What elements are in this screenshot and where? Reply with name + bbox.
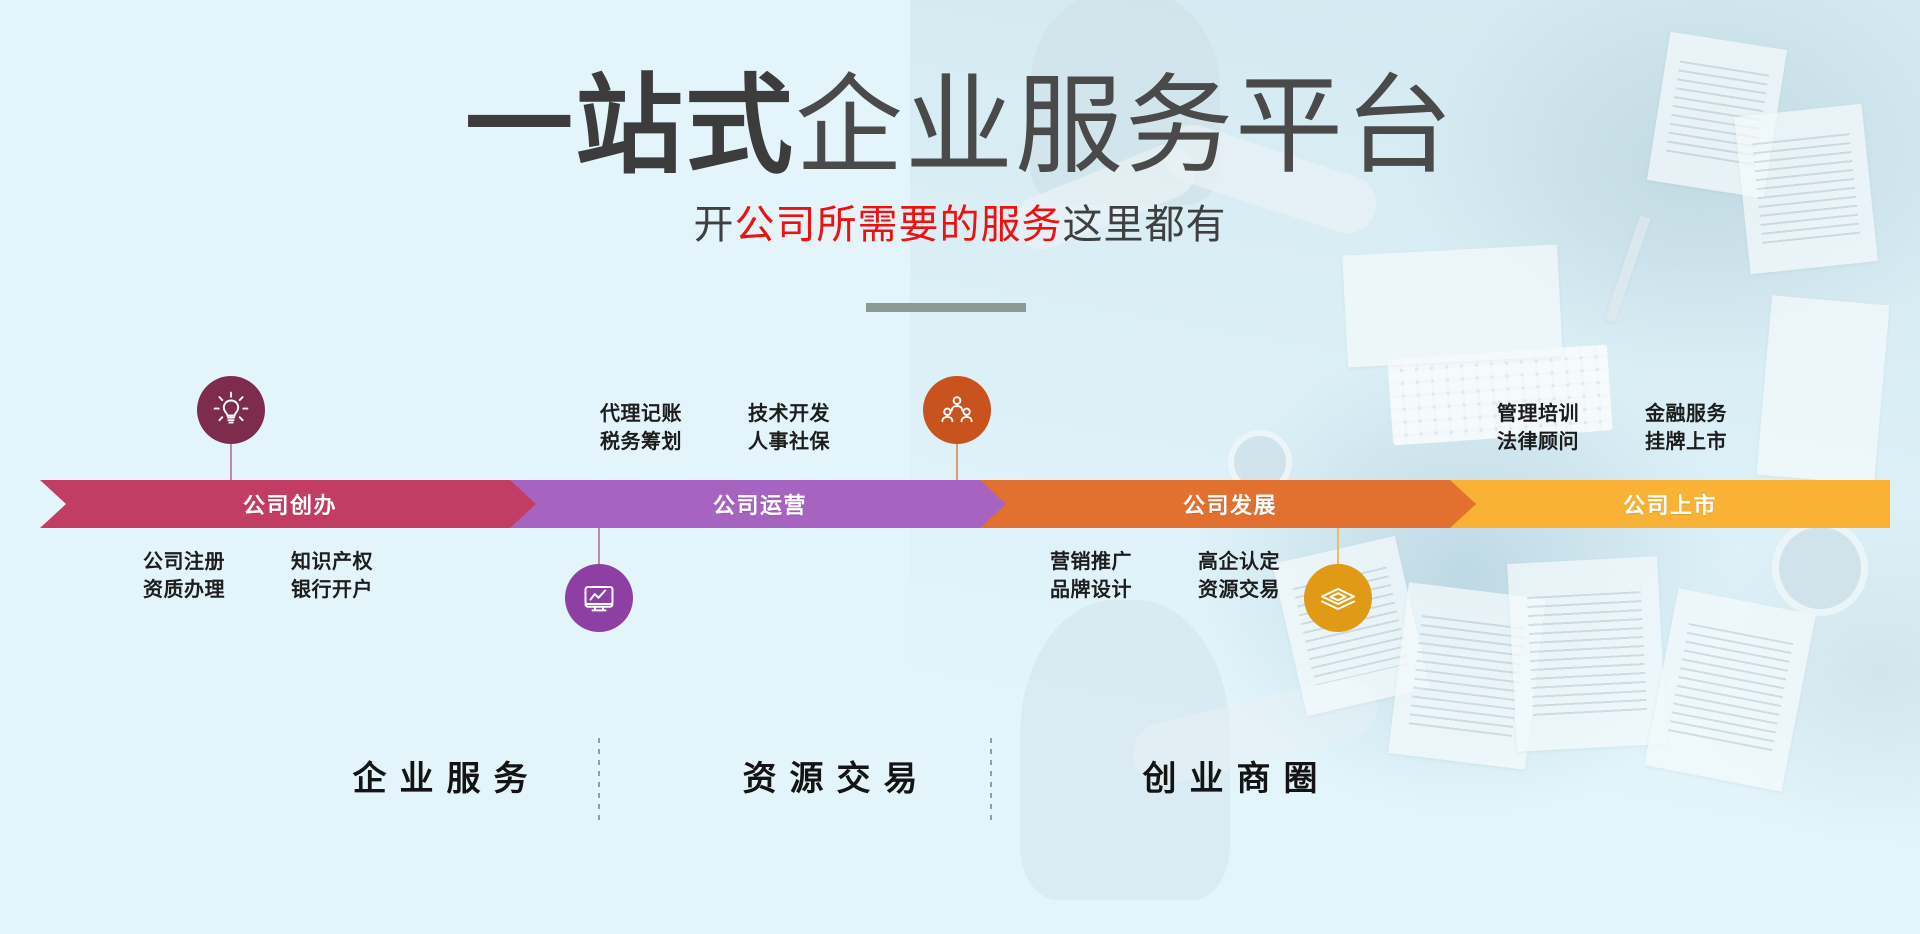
label-column: 高企认定 资源交易 xyxy=(1198,548,1328,605)
label-line: 税务筹划 xyxy=(600,428,748,456)
label-line: 资质办理 xyxy=(143,576,291,604)
lightbulb-icon xyxy=(211,390,251,430)
title-underline-rule xyxy=(866,303,1026,312)
band-item-label: 资源交易 xyxy=(730,751,931,800)
label-line: 技术开发 xyxy=(748,400,878,428)
label-line: 代理记账 xyxy=(600,400,748,428)
timeline-segment-company-development[interactable]: 公司发展 xyxy=(980,480,1480,528)
label-line: 高企认定 xyxy=(1198,548,1328,576)
node-stem-3 xyxy=(956,444,958,480)
page-subtitle: 开公司所需要的服务这里都有 xyxy=(0,192,1920,250)
band-divider-2 xyxy=(990,738,992,820)
node-circle-2 xyxy=(565,564,633,632)
segment-2-labels: 代理记账 税务筹划 技术开发 人事社保 xyxy=(600,400,878,457)
segment-4-labels: 管理培训 法律顾问 金融服务 挂牌上市 xyxy=(1497,400,1775,457)
page-title: 一站式企业服务平台 xyxy=(0,62,1920,189)
coffee-cup-shape xyxy=(1772,520,1868,616)
label-line: 公司注册 xyxy=(143,548,291,576)
page-title-strong: 一站式 xyxy=(465,65,795,186)
label-column: 金融服务 挂牌上市 xyxy=(1645,400,1775,457)
label-column: 公司注册 资质办理 xyxy=(143,548,291,605)
label-line: 金融服务 xyxy=(1645,400,1775,428)
subtitle-highlight: 公司所需要的服务 xyxy=(735,203,1063,247)
timeline-segment-company-listing[interactable]: 公司上市 xyxy=(1450,480,1890,528)
laptop-screen-shape xyxy=(1342,244,1563,367)
label-line: 知识产权 xyxy=(291,548,421,576)
node-stem-1 xyxy=(230,444,232,480)
segment-label-4: 公司上市 xyxy=(1623,488,1717,520)
segment-label-3: 公司发展 xyxy=(1183,488,1277,520)
band-item-enterprise-services[interactable]: 企业服务 xyxy=(300,720,580,830)
node-circle-3 xyxy=(923,376,991,444)
band-item-resource-trading[interactable]: 资源交易 xyxy=(690,720,970,830)
label-column: 知识产权 银行开户 xyxy=(291,548,421,605)
page-title-light: 企业服务平台 xyxy=(795,65,1455,186)
timeline-node-3[interactable] xyxy=(923,376,991,480)
process-timeline: 公司创办 公司运营 公司发展 公司上市 xyxy=(40,480,1890,528)
label-line: 管理培训 xyxy=(1497,400,1645,428)
monitor-chart-icon xyxy=(579,578,619,618)
timeline-node-2[interactable] xyxy=(565,528,633,632)
category-band: 企业服务 资源交易 创业商圈 xyxy=(0,720,1920,830)
band-item-startup-circle[interactable]: 创业商圈 xyxy=(1090,720,1370,830)
label-column: 代理记账 税务筹划 xyxy=(600,400,748,457)
timeline-node-1[interactable] xyxy=(197,376,265,480)
node-circle-1 xyxy=(197,376,265,444)
label-line: 法律顾问 xyxy=(1497,428,1645,456)
label-line: 人事社保 xyxy=(748,428,878,456)
segment-label-2: 公司运营 xyxy=(713,488,807,520)
users-group-icon xyxy=(937,390,977,430)
label-line: 资源交易 xyxy=(1198,576,1328,604)
band-divider-1 xyxy=(598,738,600,820)
tablet-shape xyxy=(1756,295,1889,485)
timeline-segment-company-founding[interactable]: 公司创办 xyxy=(40,480,540,528)
label-column: 营销推广 品牌设计 xyxy=(1050,548,1198,605)
segment-3-labels: 营销推广 品牌设计 高企认定 资源交易 xyxy=(1050,548,1328,605)
segment-label-1: 公司创办 xyxy=(243,488,337,520)
label-column: 技术开发 人事社保 xyxy=(748,400,878,457)
subtitle-prefix: 开 xyxy=(694,203,735,247)
segment-1-labels: 公司注册 资质办理 知识产权 银行开户 xyxy=(143,548,421,605)
timeline-segment-company-operation[interactable]: 公司运营 xyxy=(510,480,1010,528)
label-line: 银行开户 xyxy=(291,576,421,604)
subtitle-suffix: 这里都有 xyxy=(1063,203,1227,247)
poster-canvas: 一站式企业服务平台 开公司所需要的服务这里都有 公司创办 公司运营 公司发展 公… xyxy=(0,0,1920,934)
label-line: 营销推广 xyxy=(1050,548,1198,576)
label-line: 挂牌上市 xyxy=(1645,428,1775,456)
band-item-label: 企业服务 xyxy=(340,751,541,800)
node-stem-4 xyxy=(1337,528,1339,564)
label-line: 品牌设计 xyxy=(1050,576,1198,604)
band-item-label: 创业商圈 xyxy=(1130,751,1331,800)
label-column: 管理培训 法律顾问 xyxy=(1497,400,1645,457)
node-stem-2 xyxy=(598,528,600,564)
